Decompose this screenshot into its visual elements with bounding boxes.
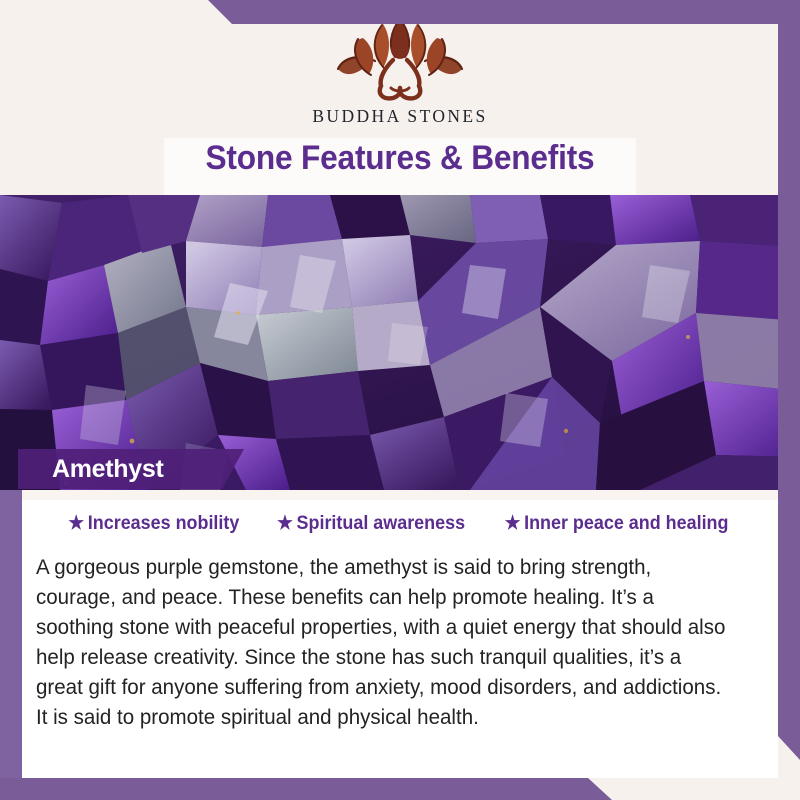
benefits-list: ★ Increases nobility ★ Spiritual awarene… xyxy=(22,512,778,535)
infographic-page: Amethyst xyxy=(0,0,800,800)
benefit-item: ★ Inner peace and healing xyxy=(505,512,729,535)
benefit-label: Spiritual awareness xyxy=(297,512,466,535)
star-icon: ★ xyxy=(69,514,85,533)
benefit-item: ★ Spiritual awareness xyxy=(277,512,465,535)
star-icon: ★ xyxy=(505,514,521,533)
brand-name: BUDDHA STONES xyxy=(0,106,800,127)
panel-top-strip xyxy=(22,490,778,500)
benefit-label: Inner peace and healing xyxy=(524,512,728,535)
stone-details-panel: ★ Increases nobility ★ Spiritual awarene… xyxy=(22,490,778,778)
lotus-meditation-figure-icon xyxy=(325,16,475,104)
benefit-label: Increases nobility xyxy=(88,512,240,535)
star-icon: ★ xyxy=(277,514,293,533)
frame-right-bar xyxy=(778,0,800,760)
stone-name-label: Amethyst xyxy=(52,455,164,484)
frame-left-bar xyxy=(0,490,22,800)
brand-logo: BUDDHA STONES xyxy=(0,16,800,127)
stone-description: A gorgeous purple gemstone, the amethyst… xyxy=(36,552,733,732)
page-title: Stone Features & Benefits xyxy=(28,139,772,178)
hero-amethyst-image xyxy=(0,195,800,490)
benefit-item: ★ Increases nobility xyxy=(69,512,240,535)
